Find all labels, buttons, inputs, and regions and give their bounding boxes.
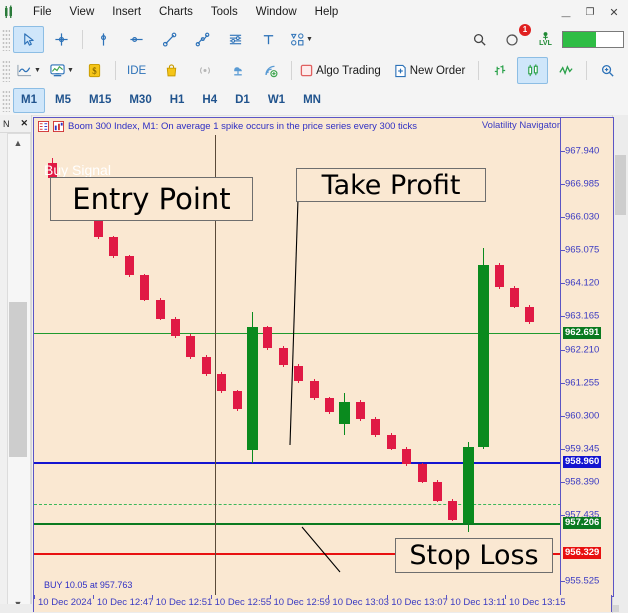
toolbar-separator — [82, 30, 83, 49]
left-dock-header: N ✕ — [0, 115, 31, 133]
toolbar-grip[interactable] — [2, 60, 10, 82]
indicators-chart-icon — [49, 63, 66, 78]
new-order-icon — [394, 64, 407, 78]
svg-text:$: $ — [92, 66, 97, 76]
text-tool[interactable] — [253, 26, 284, 53]
connection-meter[interactable] — [562, 31, 624, 48]
price-tick-label: 966.030 — [565, 212, 599, 223]
timeframe-m15[interactable]: M15 — [81, 88, 119, 113]
scrollbar-thumb[interactable] — [9, 302, 27, 457]
signals-button[interactable] — [189, 57, 220, 84]
time-tick-mark — [34, 595, 35, 599]
time-tick-label: 10 Dec 12:51 — [156, 597, 213, 608]
crosshair-icon — [54, 32, 69, 47]
time-tick-mark — [152, 595, 153, 599]
price-tick-label: 959.345 — [565, 443, 599, 454]
algo-trading-label: Algo Trading — [313, 65, 386, 77]
price-tick-label: 965.075 — [565, 245, 599, 256]
current-price-label[interactable]: 958.960 — [563, 456, 601, 468]
price-tick-label: 960.300 — [565, 410, 599, 421]
menu-insert[interactable]: Insert — [103, 0, 150, 24]
minimize-button[interactable]: — — [554, 0, 578, 25]
chart-title-bar: Boom 300 Index, M1: On average 1 spike o… — [34, 118, 613, 135]
timeframe-m5[interactable]: M5 — [47, 88, 79, 113]
menu-bar: File View Insert Charts Tools Window Hel… — [0, 0, 628, 25]
timeframe-mn[interactable]: MN — [295, 88, 329, 113]
stop-loss-price-label[interactable]: 956.329 — [563, 547, 601, 559]
copy-signal-button[interactable] — [255, 57, 286, 84]
time-tick-mark — [270, 595, 271, 599]
bar-chart-icon — [492, 63, 508, 78]
text-label-icon — [261, 32, 276, 47]
time-tick-label: 10 Dec 13:07 — [391, 597, 448, 608]
fibonacci-levels-icon — [228, 32, 243, 47]
search-icon — [472, 32, 487, 47]
menu-view[interactable]: View — [61, 0, 104, 24]
chart-toolbar: ▼ ▼ $ IDE — [0, 55, 628, 87]
time-axis[interactable]: 10 Dec 202410 Dec 12:4710 Dec 12:5110 De… — [33, 595, 612, 612]
level-label: LVL — [539, 40, 552, 47]
price-tick-label: 961.255 — [565, 377, 599, 388]
notification-bell-icon — [505, 32, 520, 47]
price-tick-label: 966.985 — [565, 179, 599, 190]
price-tick-label: 962.210 — [565, 344, 599, 355]
timeframe-m30[interactable]: M30 — [121, 88, 159, 113]
timeframe-m1[interactable]: M1 — [13, 88, 45, 113]
time-tick-label: 10 Dec 13:11 — [450, 597, 506, 608]
market-button[interactable] — [156, 57, 187, 84]
take-profit-price-label[interactable]: 962.691 — [563, 327, 601, 339]
currency-button[interactable]: $ — [79, 57, 110, 84]
trendline-icon — [162, 32, 177, 47]
timeframe-w1[interactable]: W1 — [260, 88, 293, 113]
timeframe-toolbar: M1M5M15M30H1H4D1W1MN — [0, 86, 628, 116]
close-icon[interactable]: ✕ — [20, 118, 28, 129]
time-tick-label: 10 Dec 12:59 — [274, 597, 331, 608]
toolbar-separator — [291, 61, 292, 80]
lvl-icon — [540, 32, 551, 40]
notifications-button[interactable]: 1 — [497, 26, 528, 53]
stop-loss-annotation[interactable]: Stop Loss — [395, 538, 553, 573]
line-chart-icon — [16, 63, 33, 78]
time-tick-mark — [93, 595, 94, 599]
scrollbar-thumb[interactable] — [615, 155, 626, 215]
window-controls: — ❐ ✕ — [554, 0, 626, 24]
candlestick-chart-button[interactable] — [517, 57, 548, 84]
price-tick-label: 955.525 — [565, 576, 599, 587]
scroll-up-button[interactable]: ▲ — [8, 134, 28, 151]
indicator-list-icon[interactable] — [53, 121, 64, 132]
entry-price-label[interactable]: 957.206 — [563, 517, 601, 529]
chevron-down-icon[interactable]: ▼ — [306, 36, 313, 43]
dollar-coin-icon: $ — [87, 63, 102, 78]
timeframe-d1[interactable]: D1 — [227, 88, 258, 113]
time-tick-label: 10 Dec 12:47 — [97, 597, 154, 608]
timeframe-h4[interactable]: H4 — [194, 88, 225, 113]
trendline-tool[interactable] — [154, 26, 185, 53]
zigzag-line-icon — [558, 63, 574, 78]
data-window-icon[interactable] — [38, 121, 49, 132]
broadcast-icon — [197, 63, 213, 78]
indicators-button[interactable]: ▼ — [46, 57, 77, 84]
signal-add-icon — [263, 63, 279, 78]
time-tick-mark — [505, 595, 506, 599]
metatrader-logo-icon — [0, 0, 24, 24]
notification-badge: 1 — [519, 24, 531, 36]
time-tick-mark — [211, 595, 212, 599]
price-tick-label: 958.390 — [565, 476, 599, 487]
zoom-in-icon — [600, 63, 615, 78]
zoom-in-button[interactable] — [592, 57, 623, 84]
chevron-down-icon[interactable]: ▼ — [34, 67, 41, 74]
cloud-icon — [230, 63, 246, 78]
restore-button[interactable]: ❐ — [578, 1, 602, 23]
menu-file[interactable]: File — [24, 0, 61, 24]
arrow-cursor-icon — [21, 32, 36, 47]
time-tick-label: 10 Dec 12:55 — [215, 597, 272, 608]
menu-charts[interactable]: Charts — [150, 0, 202, 24]
time-tick-mark — [328, 595, 329, 599]
close-button[interactable]: ✕ — [602, 1, 626, 23]
vertical-line-icon — [96, 32, 111, 47]
chart-title-text: Boom 300 Index, M1: On average 1 spike o… — [68, 121, 417, 132]
right-scrollbar[interactable] — [612, 115, 628, 613]
drawing-toolbar: ▼ 1 LVL — [0, 24, 628, 56]
menu-window[interactable]: Window — [247, 0, 306, 24]
algo-trading-icon — [300, 64, 313, 77]
menu-tools[interactable]: Tools — [202, 0, 247, 24]
vps-button[interactable] — [222, 57, 253, 84]
toolbar-separator — [478, 61, 479, 80]
polyline-tool[interactable] — [187, 26, 218, 53]
fibonacci-tool[interactable] — [220, 26, 251, 53]
vertical-line-tool[interactable] — [88, 26, 119, 53]
horizontal-line-icon — [129, 32, 144, 47]
entry-point-annotation[interactable]: Entry Point — [50, 177, 253, 221]
crosshair-tool[interactable] — [46, 26, 77, 53]
price-axis[interactable]: 967.940966.985966.030965.075964.120963.1… — [560, 118, 613, 596]
new-order-label: New Order — [407, 65, 471, 77]
chevron-down-icon[interactable]: ▼ — [67, 67, 74, 74]
left-dock-panel: N ✕ ▲ ▼ — [0, 115, 32, 613]
polyline-icon — [195, 32, 210, 47]
algo-trading-button[interactable]: Algo Trading — [297, 57, 389, 84]
shapes-tool[interactable]: ▼ — [286, 26, 317, 53]
toolbar-separator — [586, 61, 587, 80]
time-tick-label: 10 Dec 2024 — [38, 597, 92, 608]
shopping-bag-icon — [164, 63, 179, 78]
toolbar-grip[interactable] — [2, 29, 10, 51]
price-tick-label: 963.165 — [565, 311, 599, 322]
bar-chart-button[interactable] — [484, 57, 515, 84]
time-tick-label: 10 Dec 13:03 — [332, 597, 389, 608]
take-profit-annotation[interactable]: Take Profit — [296, 168, 486, 202]
toolbar-separator — [115, 61, 116, 80]
cursor-tool[interactable] — [13, 26, 44, 53]
price-tick-label: 964.120 — [565, 278, 599, 289]
connection-meter-fill — [563, 32, 596, 47]
shapes-icon — [290, 32, 305, 47]
line-chart-button[interactable] — [550, 57, 581, 84]
metatrader-window: File View Insert Charts Tools Window Hel… — [0, 0, 628, 613]
toolbar-grip[interactable] — [2, 90, 10, 112]
chart-type-button[interactable]: ▼ — [13, 57, 44, 84]
search-button[interactable] — [464, 26, 495, 53]
timeframe-h1[interactable]: H1 — [162, 88, 193, 113]
vertical-scrollbar[interactable]: ▲ ▼ — [7, 133, 31, 613]
time-tick-label: 10 Dec 13:15 — [509, 597, 566, 608]
navigator-label-text: Volatility Navigator — [482, 120, 560, 131]
ide-button[interactable]: IDE — [121, 57, 154, 84]
ide-label: IDE — [124, 65, 151, 77]
new-order-button[interactable]: New Order — [391, 57, 474, 84]
horizontal-line-tool[interactable] — [121, 26, 152, 53]
candlestick-icon — [525, 63, 541, 78]
left-dock-title: N — [3, 119, 10, 129]
menu-help[interactable]: Help — [306, 0, 348, 24]
time-tick-mark — [446, 595, 447, 599]
price-tick-label: 967.940 — [565, 145, 599, 156]
time-tick-mark — [387, 595, 388, 599]
level-button[interactable]: LVL — [530, 26, 561, 53]
